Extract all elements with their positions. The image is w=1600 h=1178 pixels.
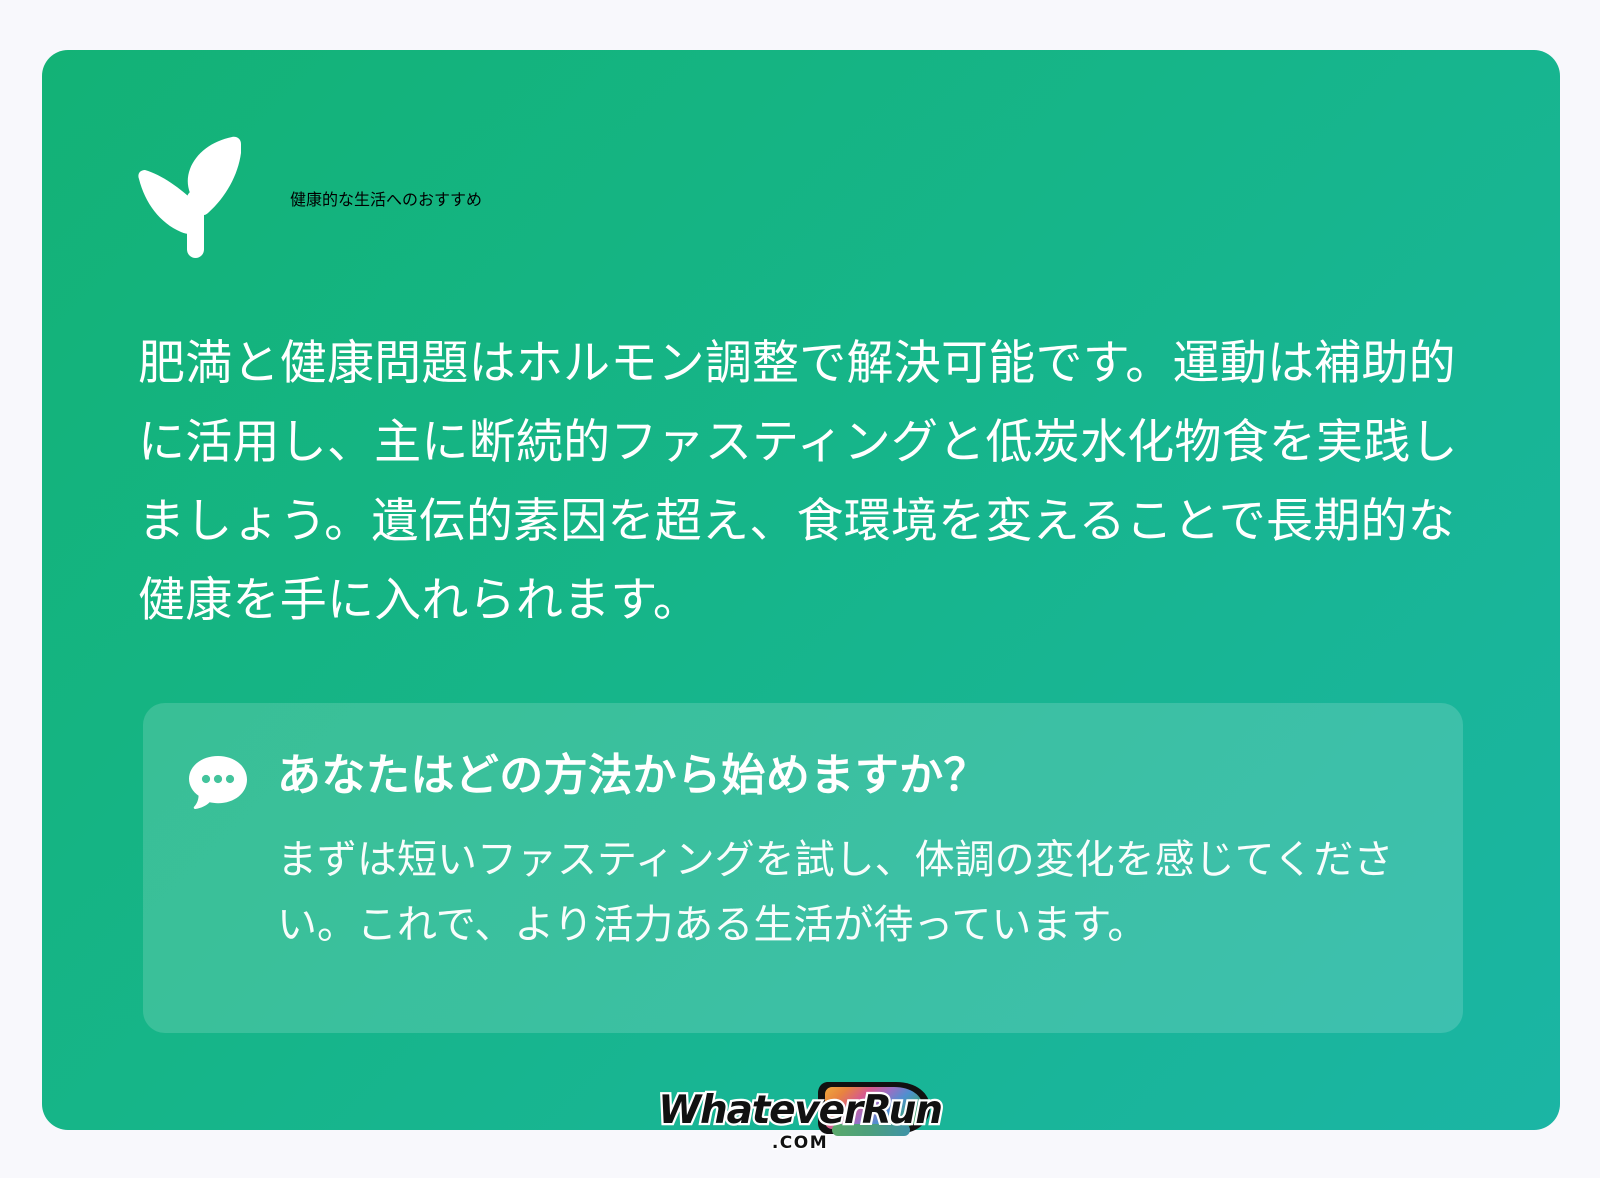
question-panel: あなたはどの方法から始めますか？ まずは短いファスティングを試し、体調の変化を感… (143, 703, 1463, 1033)
card-header: 健康的な生活へのおすすめ (138, 135, 482, 260)
page-title: 健康的な生活へのおすすめ (290, 186, 482, 210)
question-title: あなたはどの方法から始めますか？ (277, 748, 988, 803)
answer-text: まずは短いファスティングを試し、体調の変化を感じてください。これで、より活力ある… (277, 828, 1419, 958)
chat-bubble-icon (187, 754, 249, 810)
body-paragraph: 肥満と健康問題はホルモン調整で解決可能です。運動は補助的に活用し、主に断続的ファ… (138, 325, 1468, 641)
watermark-tld: .COM (772, 1133, 828, 1153)
recommendation-card: 健康的な生活へのおすすめ 肥満と健康問題はホルモン調整で解決可能です。運動は補助… (42, 50, 1560, 1130)
question-row: あなたはどの方法から始めますか？ (187, 748, 1419, 810)
seedling-icon (138, 135, 248, 260)
